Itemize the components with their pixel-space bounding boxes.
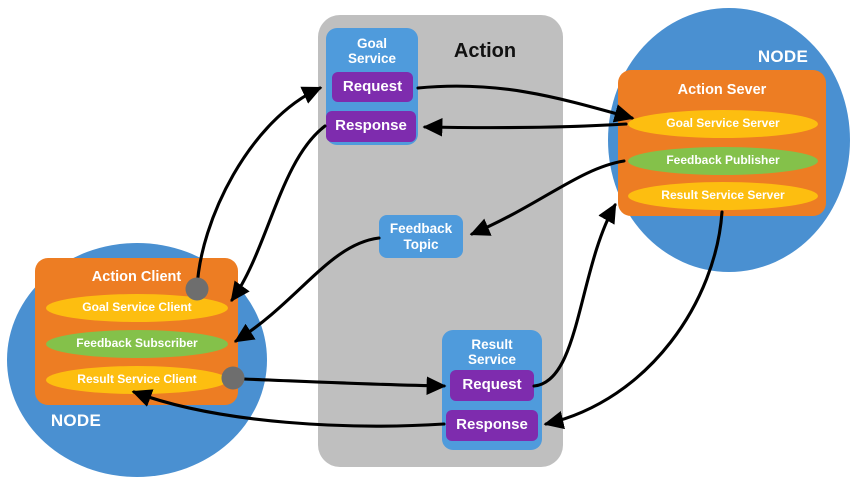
action-group-title: Action xyxy=(432,34,538,68)
diagram-canvas: Action Goal Service Request Response Fee… xyxy=(0,0,854,480)
goal-service-request-pill xyxy=(332,72,413,102)
feedback-publisher-ellipse xyxy=(628,147,818,175)
result-client-connector-dot xyxy=(222,367,245,390)
goal-client-connector-dot xyxy=(186,278,209,301)
result-service-server-ellipse xyxy=(628,182,818,210)
diagram-graphics xyxy=(0,0,854,480)
result-service-client-ellipse xyxy=(46,366,228,394)
goal-service-response-pill xyxy=(326,111,416,142)
feedback-subscriber-ellipse xyxy=(46,330,228,358)
goal-service-server-ellipse xyxy=(628,110,818,138)
result-service-request-pill xyxy=(450,370,534,401)
feedback-topic-box xyxy=(379,215,463,258)
result-service-response-pill xyxy=(446,410,538,441)
